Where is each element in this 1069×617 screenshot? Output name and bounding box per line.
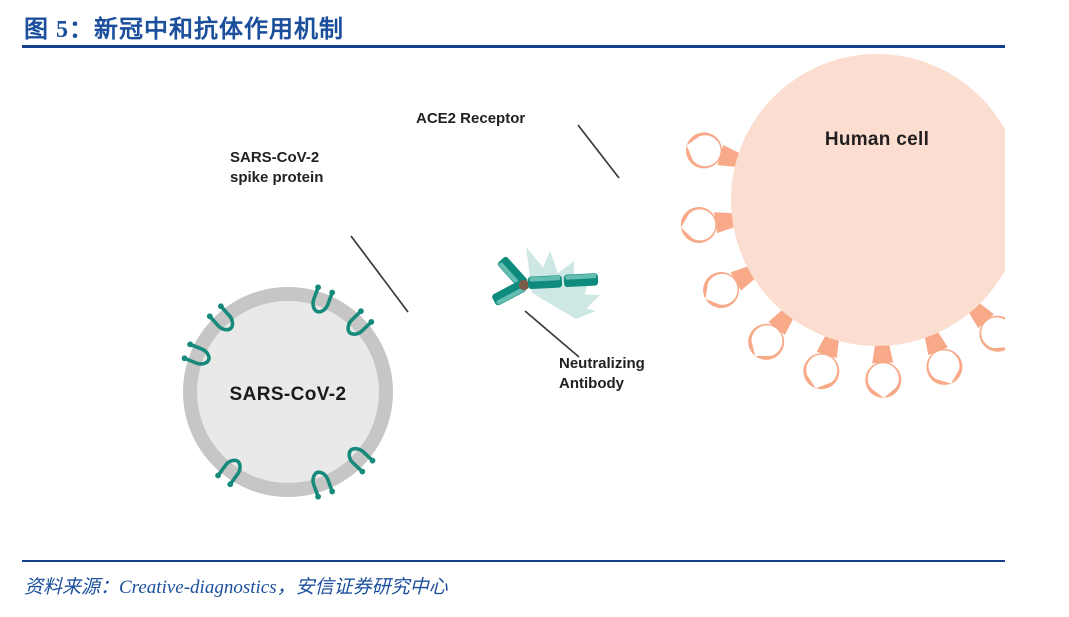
leader-line-antibody xyxy=(525,311,579,357)
source-note: 资料来源：Creative-diagnostics，安信证券研究中心 xyxy=(24,572,448,599)
figure-page: 图 5：新冠中和抗体作用机制 xyxy=(0,0,1069,617)
ace2-receptor xyxy=(864,341,902,398)
spike-protein-label-line2: spike protein xyxy=(230,169,323,186)
ace2-receptor xyxy=(678,202,738,245)
leader-line-ace2-receptor xyxy=(578,125,619,178)
neutralizing-antibody-callout: Neutralizing Antibody xyxy=(559,355,645,392)
leader-line-spike-protein xyxy=(351,236,408,312)
antibody-stem-proximal xyxy=(528,275,563,289)
source-divider xyxy=(22,560,1005,562)
antibody-hinge xyxy=(519,280,529,290)
human-cell-body xyxy=(731,54,1005,346)
ace2-receptor-label: ACE2 Receptor xyxy=(416,110,525,127)
page-title: 图 5：新冠中和抗体作用机制 xyxy=(24,9,344,44)
spike-protein-label-line1: SARS-CoV-2 xyxy=(230,149,319,166)
human-cell-label: Human cell xyxy=(825,129,929,150)
antibody-stem-distal xyxy=(564,273,599,287)
virus-core-label: SARS-CoV-2 xyxy=(230,384,347,405)
human-cell-group: Human cell xyxy=(678,54,1005,399)
diagram-canvas: Human cell xyxy=(22,50,1005,555)
title-divider xyxy=(22,45,1005,48)
neutralizing-antibody-label-line1: Neutralizing xyxy=(559,355,645,372)
spike-protein-callout: SARS-CoV-2 spike protein xyxy=(230,149,323,186)
virus-group: SARS-CoV-2 xyxy=(181,284,393,501)
neutralizing-antibody-label-line2: Antibody xyxy=(559,375,625,392)
antibody-group xyxy=(491,247,600,319)
mechanism-illustration: Human cell xyxy=(22,50,1005,555)
